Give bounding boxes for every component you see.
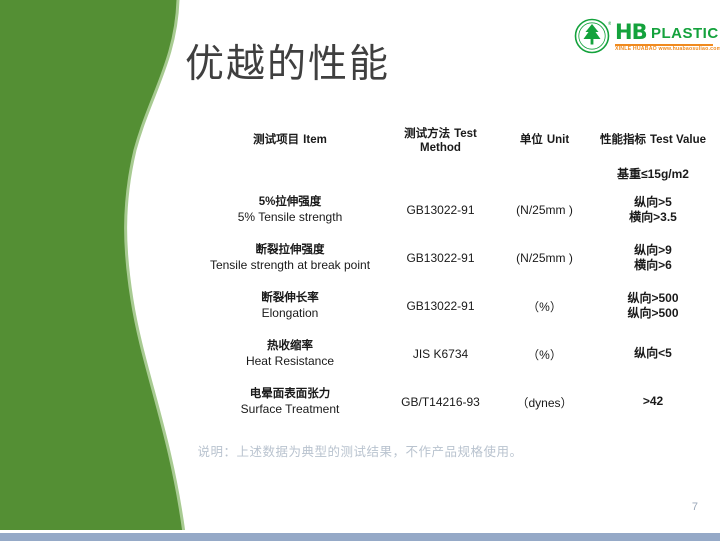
row-value-1: 纵向>9 [634,243,672,259]
green-tree-emblem-icon: ® [573,18,611,54]
row-unit-text: （%） [527,298,562,315]
row-unit: (N/25mm ) [497,189,592,231]
row-value-2: 纵向>500 [627,306,678,322]
row-item-en: Heat Resistance [246,354,334,369]
row-item: 5%拉伸强度 5% Tensile strength [196,189,384,231]
row-values: 纵向>9 横向>6 [592,237,714,279]
table-prevalue-row: 基重≤15g/m2 [196,160,714,186]
table-row: 电晕面表面张力 Surface Treatment GB/T14216-93 （… [196,378,714,426]
header-unit-en: Unit [547,134,569,146]
row-unit-text: (N/25mm ) [516,251,573,265]
row-value-1: >42 [643,394,663,410]
row-item: 电晕面表面张力 Surface Treatment [196,381,384,423]
row-item-cn: 断裂伸长率 [261,291,319,306]
row-method-text: JIS K6734 [413,347,468,361]
table-row: 断裂拉伸强度 Tensile strength at break point G… [196,234,714,282]
prevalue-spacer-item [196,160,384,186]
row-unit: (N/25mm ) [497,237,592,279]
row-value-1: 纵向>500 [627,291,678,307]
header-method: 测试方法Test Method [384,118,497,160]
row-values: 纵向<5 [592,333,714,375]
logo-brand-text: HB [615,20,647,44]
row-value-1: 纵向>5 [634,195,672,211]
row-values: 纵向>500 纵向>500 [592,285,714,327]
header-method-en-line2: Method [420,142,461,154]
row-unit-text: （dynes） [516,394,572,411]
header-method-en-line1: Test [454,128,477,140]
row-method-text: GB13022-91 [406,251,474,265]
row-unit: （%） [497,285,592,327]
slide-canvas: 优越的性能 ® HB PLASTIC XINLE HUABAO www.huab… [0,0,720,541]
company-logo: ® HB PLASTIC XINLE HUABAO www.huabaosuli… [573,17,715,57]
row-method-text: GB/T14216-93 [401,395,480,409]
row-values: >42 [592,381,714,423]
header-test-value: 性能指标Test Value [592,118,714,160]
prevalue-spacer-unit [497,160,592,186]
row-item: 断裂伸长率 Elongation [196,285,384,327]
row-item-en: 5% Tensile strength [238,210,343,225]
row-unit: （dynes） [497,381,592,423]
table-row: 5%拉伸强度 5% Tensile strength GB13022-91 (N… [196,186,714,234]
row-unit-text: （%） [527,346,562,363]
header-item-cn: 测试项目 [253,134,299,146]
header-method-cn: 测试方法 [404,128,450,140]
header-value-en: Test Value [650,134,706,146]
page-title: 优越的性能 [185,33,390,89]
row-value-1: 纵向<5 [634,346,672,362]
footnote: 说明：上述数据为典型的测试结果，不作产品规格使用。 [0,441,720,460]
bottom-accent-band [0,533,720,541]
row-item: 断裂拉伸强度 Tensile strength at break point [196,237,384,279]
row-values: 纵向>5 横向>3.5 [592,189,714,231]
prevalue-spacer-method [384,160,497,186]
row-method-text: GB13022-91 [406,203,474,217]
row-value-2: 横向>6 [634,258,672,274]
header-item-en: Item [303,134,327,146]
logo-subtitle-text: XINLE HUABAO www.huabaosuliao.com [615,46,720,52]
row-item-en: Elongation [262,306,319,321]
header-value-cn: 性能指标 [600,134,646,146]
prevalue-basis-weight: 基重≤15g/m2 [592,160,714,186]
table-row: 热收缩率 Heat Resistance JIS K6734 （%） 纵向<5 [196,330,714,378]
row-method: GB/T14216-93 [384,381,497,423]
table-row: 断裂伸长率 Elongation GB13022-91 （%） 纵向>500 纵… [196,282,714,330]
svg-text:®: ® [608,20,612,27]
row-unit-text: (N/25mm ) [516,203,573,217]
row-item-en: Tensile strength at break point [210,258,370,273]
row-item-cn: 5%拉伸强度 [259,195,322,210]
row-item-cn: 热收缩率 [267,339,313,354]
row-method: GB13022-91 [384,189,497,231]
row-method: JIS K6734 [384,333,497,375]
row-method: GB13022-91 [384,237,497,279]
row-method-text: GB13022-91 [406,299,474,313]
logo-product-text: PLASTIC [651,25,719,42]
row-item: 热收缩率 Heat Resistance [196,333,384,375]
table-header-row: 测试项目Item 测试方法Test Method 单位Unit 性能指标Test… [196,118,714,160]
row-item-en: Surface Treatment [241,402,340,417]
prevalue-text: 基重≤15g/m2 [617,165,689,182]
header-unit: 单位Unit [497,118,592,160]
row-item-cn: 断裂拉伸强度 [256,243,325,258]
header-item: 测试项目Item [196,118,384,160]
row-value-2: 横向>3.5 [629,210,677,226]
row-method: GB13022-91 [384,285,497,327]
specification-table: 测试项目Item 测试方法Test Method 单位Unit 性能指标Test… [196,118,714,426]
row-unit: （%） [497,333,592,375]
header-unit-cn: 单位 [520,134,543,146]
row-item-cn: 电晕面表面张力 [250,387,331,402]
page-number: 7 [692,501,698,513]
